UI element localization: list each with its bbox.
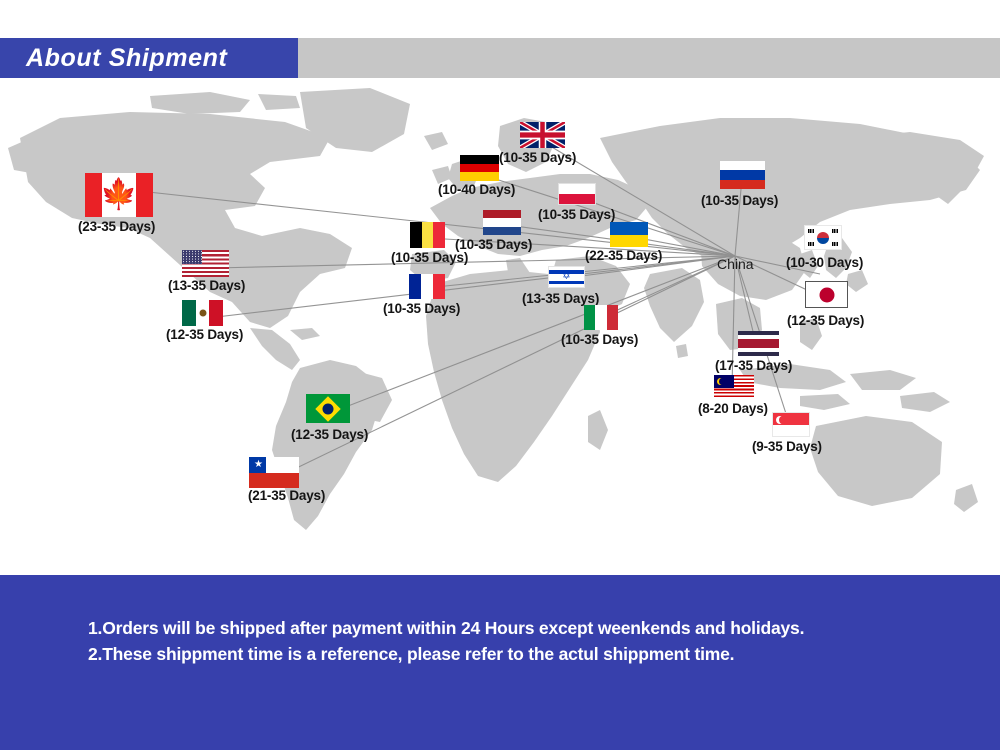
ukraine-days: (22-35 Days) — [585, 248, 662, 263]
south-korea-flag — [804, 225, 842, 250]
usa-flag — [182, 250, 229, 277]
netherlands-flag — [483, 210, 521, 235]
uk-days: (10-35 Days) — [499, 150, 576, 165]
thailand-flag — [738, 331, 779, 356]
footer-note-2: 2.These shippment time is a reference, p… — [88, 644, 734, 665]
italy-days: (10-35 Days) — [561, 332, 638, 347]
italy-flag — [584, 305, 618, 330]
germany-flag — [460, 155, 499, 181]
chile-flag: ★ — [249, 457, 299, 488]
shipment-infographic: About Shipment — [0, 0, 1000, 750]
france-flag — [409, 274, 445, 299]
mexico-days: (12-35 Days) — [166, 327, 243, 342]
belgium-flag — [410, 222, 445, 248]
footer-note-1: 1.Orders will be shipped after payment w… — [88, 618, 804, 639]
brazil-days: (12-35 Days) — [291, 427, 368, 442]
germany-days: (10-40 Days) — [438, 182, 515, 197]
israel-flag: ✡ — [548, 266, 585, 288]
south-korea-days: (10-30 Days) — [786, 255, 863, 270]
belgium-days: (10-35 Days) — [391, 250, 468, 265]
poland-flag — [558, 183, 596, 205]
malaysia-flag — [714, 375, 754, 399]
canada-days: (23-35 Days) — [78, 219, 155, 234]
russia-flag — [720, 161, 765, 189]
world-map-area: China 🍁 (23-35 Days) (13-35 Days) — [0, 78, 1000, 575]
israel-days: (13-35 Days) — [522, 291, 599, 306]
singapore-flag — [772, 412, 810, 437]
footer-band: 1.Orders will be shipped after payment w… — [0, 575, 1000, 750]
brazil-flag — [306, 394, 350, 423]
page-title: About Shipment — [26, 40, 296, 76]
thailand-days: (17-35 Days) — [715, 358, 792, 373]
uk-flag — [520, 122, 565, 148]
malaysia-days: (8-20 Days) — [698, 401, 768, 416]
usa-days: (13-35 Days) — [168, 278, 245, 293]
france-days: (10-35 Days) — [383, 301, 460, 316]
mexico-flag — [182, 300, 223, 326]
poland-days: (10-35 Days) — [538, 207, 615, 222]
hub-label-china: China — [717, 256, 754, 272]
japan-days: (12-35 Days) — [787, 313, 864, 328]
singapore-days: (9-35 Days) — [752, 439, 822, 454]
canada-flag: 🍁 — [85, 173, 153, 217]
russia-days: (10-35 Days) — [701, 193, 778, 208]
ukraine-flag — [610, 222, 648, 247]
japan-flag — [805, 281, 848, 308]
chile-days: (21-35 Days) — [248, 488, 325, 503]
